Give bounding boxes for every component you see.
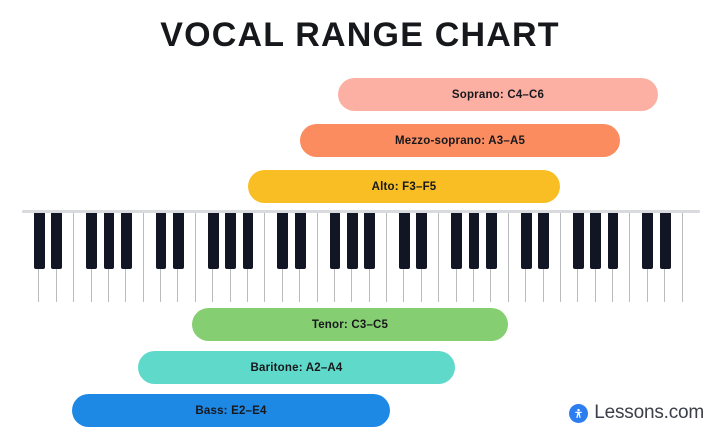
page-title: VOCAL RANGE CHART (0, 16, 720, 55)
range-bar-tenor: Tenor: C3–C5 (192, 308, 508, 341)
piano-black-key (538, 213, 549, 269)
piano-black-key (208, 213, 219, 269)
piano-black-key (590, 213, 601, 269)
piano-black-key (330, 213, 341, 269)
range-bar-label-soprano: Soprano: C4–C6 (452, 89, 544, 101)
lessons-logo-icon (569, 404, 588, 423)
piano-black-key (295, 213, 306, 269)
piano-black-key (156, 213, 167, 269)
vocal-range-chart: VOCAL RANGE CHART Soprano: C4–C6 Mezzo-s… (0, 0, 720, 447)
piano-black-key (399, 213, 410, 269)
piano-black-key (451, 213, 462, 269)
piano-black-key (642, 213, 653, 269)
piano-black-key (51, 213, 62, 269)
range-bar-mezzo-soprano: Mezzo-soprano: A3–A5 (300, 124, 620, 157)
piano-black-key (347, 213, 358, 269)
lessons-logo[interactable]: Lessons.com (569, 402, 704, 424)
range-bar-soprano: Soprano: C4–C6 (338, 78, 658, 111)
piano-keyboard (22, 210, 700, 302)
piano-black-key (469, 213, 480, 269)
lessons-logo-text: Lessons.com (594, 402, 704, 424)
piano-black-key (225, 213, 236, 269)
piano-black-key (121, 213, 132, 269)
piano-black-key (660, 213, 671, 269)
piano-black-key (86, 213, 97, 269)
range-bar-baritone: Baritone: A2–A4 (138, 351, 455, 384)
piano-black-key (277, 213, 288, 269)
range-bar-alto: Alto: F3–F5 (248, 170, 560, 203)
range-bar-label-tenor: Tenor: C3–C5 (312, 319, 388, 331)
range-bar-label-alto: Alto: F3–F5 (372, 181, 437, 193)
piano-black-key (416, 213, 427, 269)
piano-black-key (608, 213, 619, 269)
piano-black-key (34, 213, 45, 269)
range-bar-label-baritone: Baritone: A2–A4 (250, 362, 342, 374)
piano-black-key (364, 213, 375, 269)
piano-black-key (243, 213, 254, 269)
piano-black-key (573, 213, 584, 269)
range-bar-label-mezzo-soprano: Mezzo-soprano: A3–A5 (395, 135, 525, 147)
piano-black-key (104, 213, 115, 269)
piano-white-key (683, 213, 700, 302)
piano-black-key (173, 213, 184, 269)
piano-black-key (486, 213, 497, 269)
piano-black-key (521, 213, 532, 269)
range-bar-bass: Bass: E2–E4 (72, 394, 390, 427)
range-bar-label-bass: Bass: E2–E4 (195, 405, 266, 417)
